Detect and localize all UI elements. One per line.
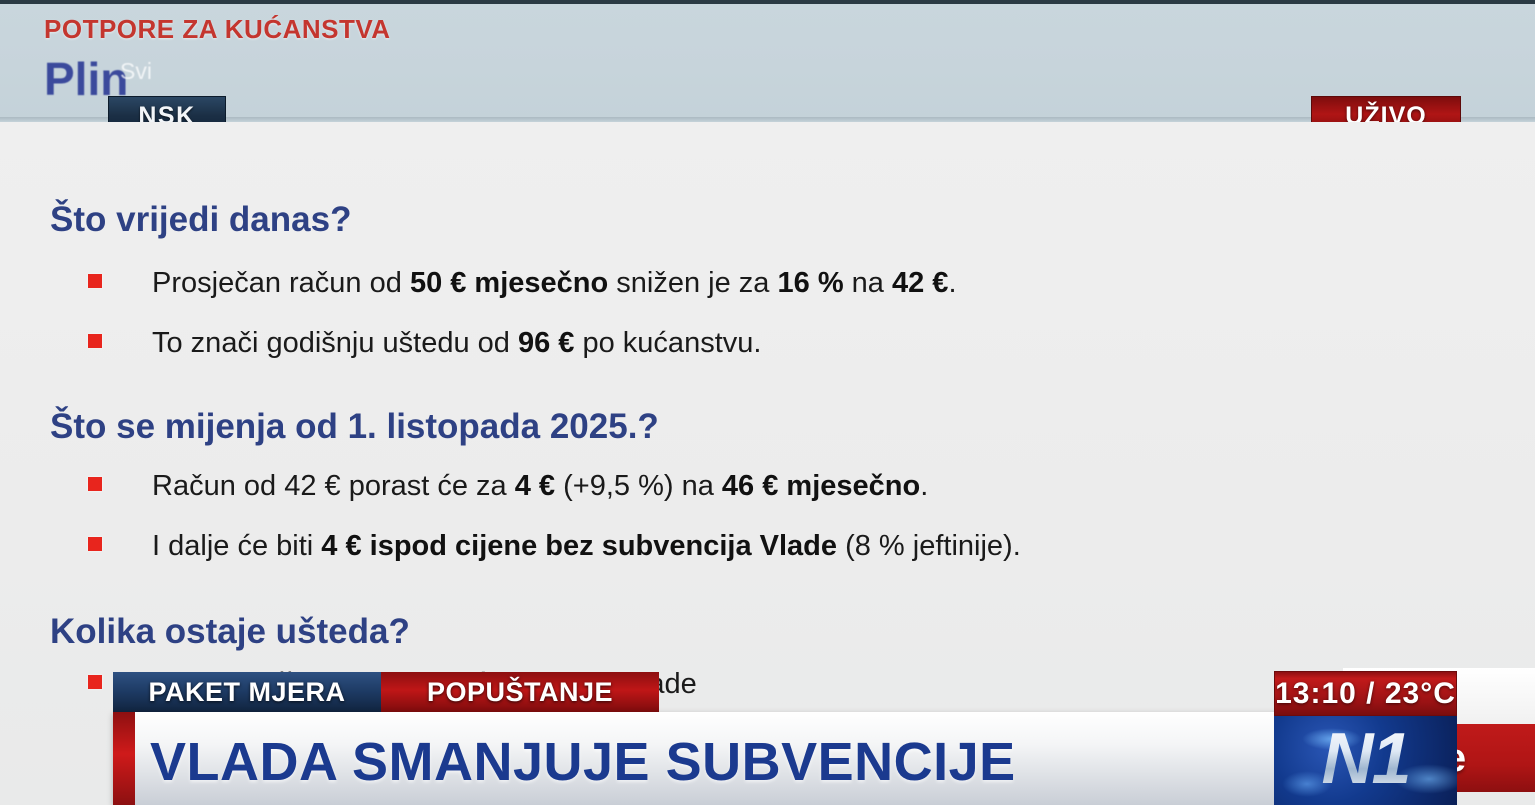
section-heading-1: Što vrijedi danas? bbox=[50, 200, 351, 240]
bullet-square-icon bbox=[88, 274, 102, 288]
section-heading-2: Što se mijenja od 1. listopada 2025.? bbox=[50, 407, 659, 447]
bullet-text: I dalje će biti 4 € ispod cijene bez sub… bbox=[152, 532, 1021, 561]
slide-header-band: POTPORE ZA KUĆANSTVA Plin Svi bbox=[0, 0, 1535, 122]
slide-kicker: POTPORE ZA KUĆANSTVA bbox=[44, 14, 391, 45]
bullet-text: 48 € godišnje zahvaljujući mjerama Vlade bbox=[152, 670, 697, 699]
section-heading-3: Kolika ostaje ušteda? bbox=[50, 612, 410, 652]
bullet-item: Prosječan račun od 50 € mjesečno snižen … bbox=[88, 269, 957, 298]
slide-ghost-label: Svi bbox=[120, 58, 152, 85]
bullet-text: Prosječan račun od 50 € mjesečno snižen … bbox=[152, 269, 957, 298]
broadcast-screen: POTPORE ZA KUĆANSTVA Plin Svi NSK UŽIVO … bbox=[0, 0, 1535, 805]
bullet-square-icon bbox=[88, 334, 102, 348]
bullet-square-icon bbox=[88, 537, 102, 551]
bullet-item: I dalje će biti 4 € ispod cijene bez sub… bbox=[88, 532, 1021, 561]
bullet-text: To znači godišnju uštedu od 96 € po kuća… bbox=[152, 329, 761, 358]
bullet-item: 48 € godišnje zahvaljujući mjerama Vlade bbox=[88, 670, 697, 699]
bullet-text: Račun od 42 € porast će za 4 € (+9,5 %) … bbox=[152, 472, 928, 501]
bullet-square-icon bbox=[88, 477, 102, 491]
bullet-item: Račun od 42 € porast će za 4 € (+9,5 %) … bbox=[88, 472, 928, 501]
slide-body: Što vrijedi danas? Prosječan račun od 50… bbox=[0, 122, 1535, 805]
bullet-square-icon bbox=[88, 675, 102, 689]
bullet-item: To znači godišnju uštedu od 96 € po kuća… bbox=[88, 329, 761, 358]
